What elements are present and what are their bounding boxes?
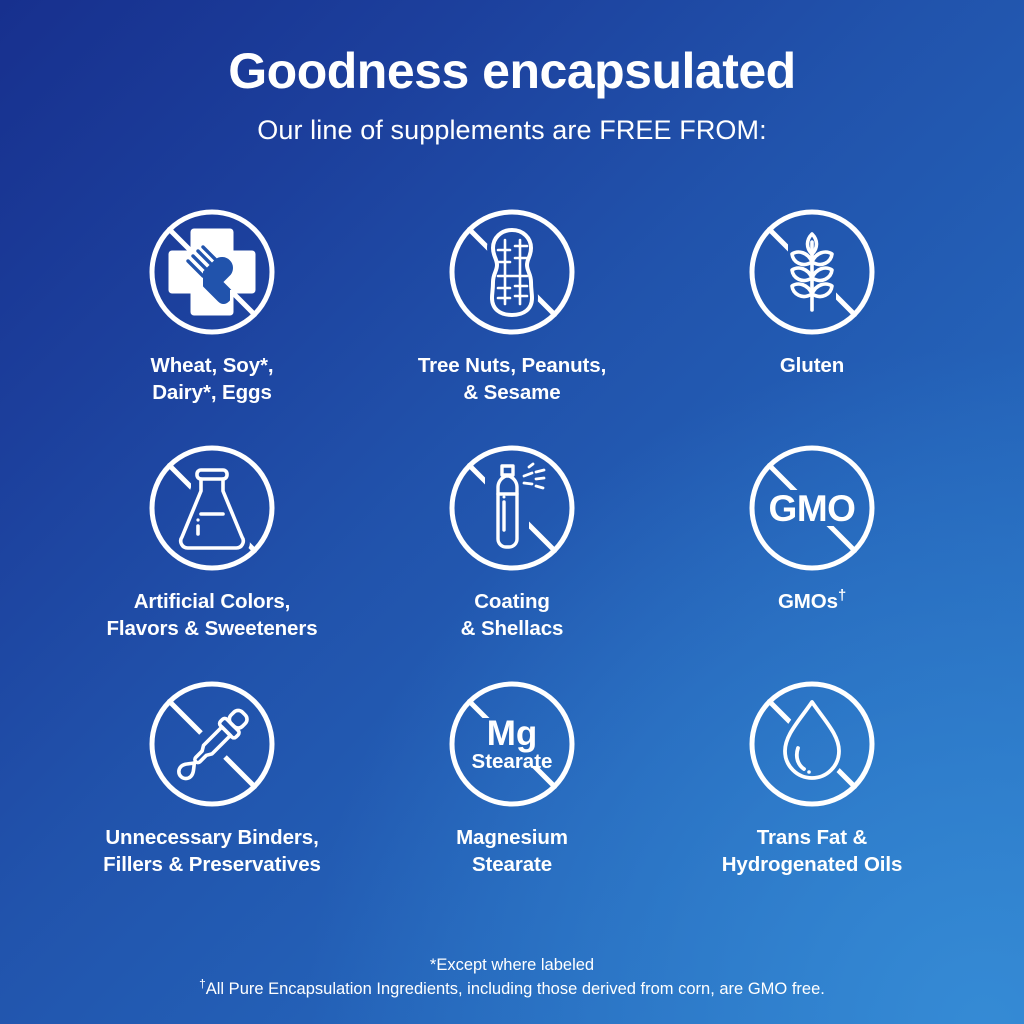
free-from-item-magnesium-stearate: Mg Stearate Magnesium Stearate: [362, 678, 662, 914]
free-from-item-gluten: Gluten: [662, 206, 962, 442]
footnote-gmo-free: †All Pure Encapsulation Ingredients, inc…: [0, 978, 1024, 1002]
footnote-except-where-labeled: *Except where labeled: [0, 954, 1024, 978]
free-from-label-text: GMOs: [778, 590, 838, 613]
footnote-marker: †: [838, 588, 846, 604]
no-flask-icon: [146, 442, 278, 574]
free-from-label: Trans Fat & Hydrogenated Oils: [722, 824, 903, 878]
no-dropper-icon: [146, 678, 278, 810]
no-allergen-cross-fork-icon: [146, 206, 278, 338]
footnotes: *Except where labeled †All Pure Encapsul…: [0, 954, 1024, 1002]
page-title: Goodness encapsulated: [0, 44, 1024, 99]
no-gmo-icon: GMO: [746, 442, 878, 574]
footnote-dagger-marker: †: [199, 977, 206, 991]
free-from-label: GMOs†: [778, 588, 846, 615]
free-from-item-trans-fat: Trans Fat & Hydrogenated Oils: [662, 678, 962, 914]
free-from-label: Unnecessary Binders, Fillers & Preservat…: [103, 824, 321, 878]
free-from-label: Tree Nuts, Peanuts, & Sesame: [418, 352, 606, 406]
no-magnesium-stearate-icon: Mg Stearate: [446, 678, 578, 810]
free-from-label: Magnesium Stearate: [456, 824, 568, 878]
page-subtitle: Our line of supplements are FREE FROM:: [0, 114, 1024, 146]
no-peanut-icon: [446, 206, 578, 338]
infographic-poster: Goodness encapsulated Our line of supple…: [0, 0, 1024, 1024]
free-from-label: Coating & Shellacs: [461, 588, 564, 642]
free-from-label: Wheat, Soy*, Dairy*, Eggs: [151, 352, 274, 406]
footnote-gmo-free-text: All Pure Encapsulation Ingredients, incl…: [206, 980, 825, 998]
free-from-item-nuts: Tree Nuts, Peanuts, & Sesame: [362, 206, 662, 442]
no-oil-droplet-icon: [746, 678, 878, 810]
free-from-label: Gluten: [780, 352, 844, 379]
header: Goodness encapsulated Our line of supple…: [0, 44, 1024, 146]
free-from-item-coating: Coating & Shellacs: [362, 442, 662, 678]
no-spray-can-icon: [446, 442, 578, 574]
free-from-grid: Wheat, Soy*, Dairy*, Eggs: [62, 206, 962, 914]
free-from-item-binders: Unnecessary Binders, Fillers & Preservat…: [62, 678, 362, 914]
no-wheat-stalk-icon: [746, 206, 878, 338]
free-from-item-gmo: GMO GMOs†: [662, 442, 962, 678]
free-from-item-artificial-colors: Artificial Colors, Flavors & Sweeteners: [62, 442, 362, 678]
free-from-label: Artificial Colors, Flavors & Sweeteners: [106, 588, 317, 642]
free-from-item-allergens: Wheat, Soy*, Dairy*, Eggs: [62, 206, 362, 442]
